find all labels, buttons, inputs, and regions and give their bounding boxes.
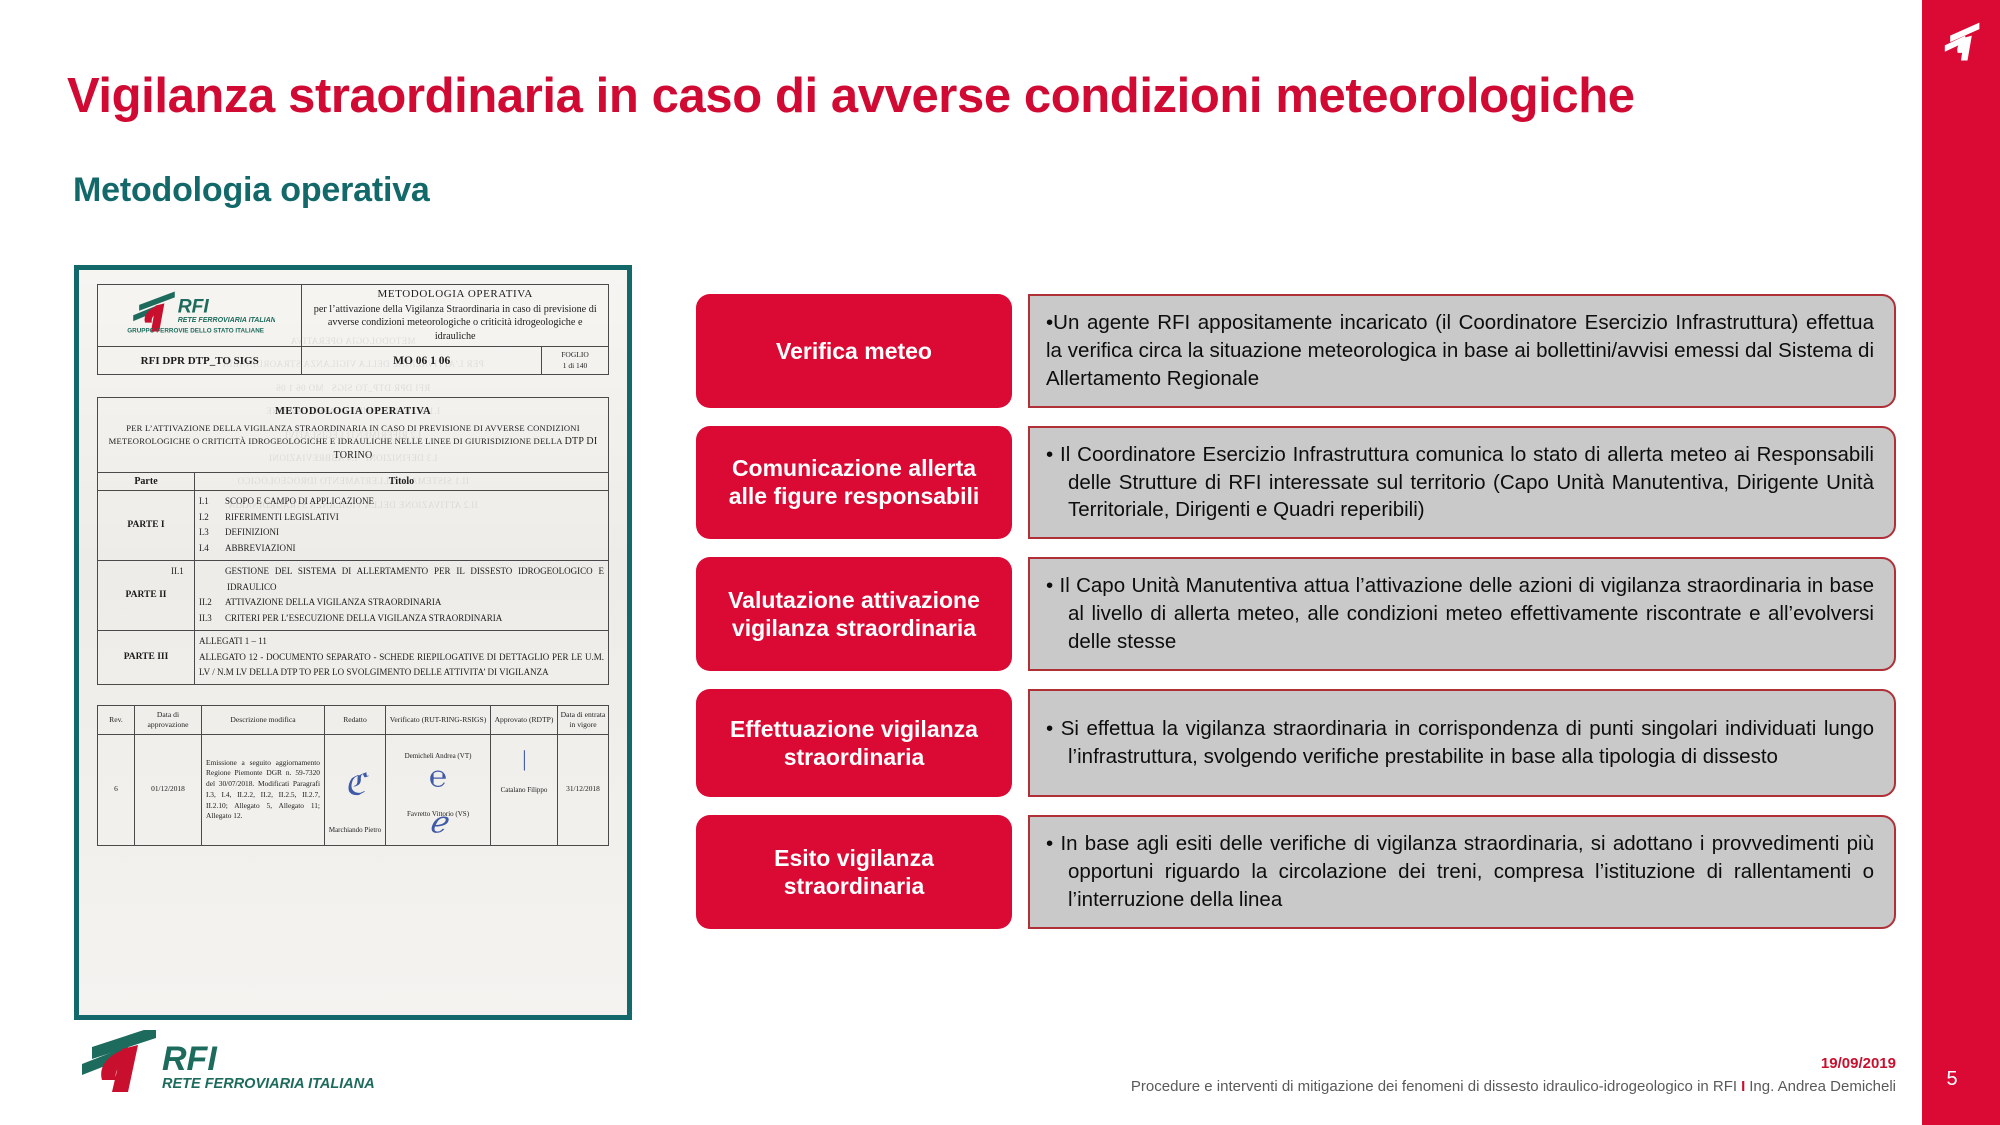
document-header-table: RFI RETE FERROVIARIA ITALIANA GRUPPO FER… bbox=[97, 284, 609, 375]
page-title: Vigilanza straordinaria in caso di avver… bbox=[67, 70, 1867, 124]
rfi-logo-icon: RFI RETE FERROVIARIA ITALIANA GRUPPO FER… bbox=[125, 290, 275, 336]
footer-date: 19/09/2019 bbox=[1821, 1055, 1896, 1072]
toc-item-text: ALLEGATI 1 – 11 bbox=[199, 636, 267, 646]
toc-row: PARTE I I.1SCOPO E CAMPO DI APPLICAZIONE… bbox=[98, 490, 609, 560]
flow-row: Comunicazione allerta alle figure respon… bbox=[696, 426, 1896, 540]
revision-verificato-name-1: Demicheli Andrea (VT) bbox=[386, 751, 490, 761]
revision-redatto-name: Marchiando Pietro bbox=[325, 825, 385, 835]
flow-step-verifica-meteo[interactable]: Verifica meteo bbox=[696, 294, 1012, 408]
revision-data-row: 6 01/12/2018 Emissione a seguito aggiorn… bbox=[98, 734, 609, 845]
revision-date-effective: 31/12/2018 bbox=[558, 734, 609, 845]
toc-row: PARTE III ALLEGATI 1 – 11 ALLEGATO 12 - … bbox=[98, 630, 609, 684]
document-header-logo-cell: RFI RETE FERROVIARIA ITALIANA GRUPPO FER… bbox=[98, 285, 302, 347]
document-spacer bbox=[97, 375, 609, 397]
flow-desc-effettuazione-vigilanza: • Si effettua la vigilanza straordinaria… bbox=[1028, 689, 1896, 797]
revision-col-description: Descrizione modifica bbox=[202, 706, 325, 735]
revision-col-verificato: Verificato (RUT-RING-RSIGS) bbox=[386, 706, 491, 735]
flow-step-esito-vigilanza[interactable]: Esito vigilanza straordinaria bbox=[696, 815, 1012, 929]
revision-date-approval: 01/12/2018 bbox=[135, 734, 202, 845]
revision-col-date-effective: Data di entrata in vigore bbox=[558, 706, 609, 735]
svg-text:GRUPPO FERROVIE DELLO STATO IT: GRUPPO FERROVIE DELLO STATO ITALIANE bbox=[127, 327, 264, 334]
toc-header-titolo: Titolo bbox=[195, 472, 609, 490]
footer-caption: Procedure e interventi di mitigazione de… bbox=[1131, 1078, 1896, 1095]
flow-desc-body: • Il Coordinatore Esercizio Infrastruttu… bbox=[1046, 441, 1874, 525]
svg-text:RETE FERROVIARIA ITALIANA: RETE FERROVIARIA ITALIANA bbox=[162, 1076, 375, 1092]
toc-item: I.2RIFERIMENTI LEGISLATIVI bbox=[199, 510, 604, 526]
toc-row: PARTE II II.1GESTIONE DEL SISTEMA DI ALL… bbox=[98, 560, 609, 630]
flow-step-comunicazione-allerta[interactable]: Comunicazione allerta alle figure respon… bbox=[696, 426, 1012, 540]
toc-item-num: I.4 bbox=[199, 541, 225, 557]
document-content: RFI RETE FERROVIARIA ITALIANA GRUPPO FER… bbox=[97, 284, 609, 1000]
flow-gap bbox=[1012, 689, 1028, 797]
document-section-title: METODOLOGIA OPERATIVA bbox=[108, 406, 598, 417]
revision-approvato: | Catalano Filippo bbox=[491, 734, 558, 845]
document-header-subtitle: per l’attivazione della Vigilanza Straor… bbox=[306, 303, 604, 343]
signature-mark: ℯ bbox=[429, 801, 447, 845]
flow-step-effettuazione-vigilanza[interactable]: Effettuazione vigilanza straordinaria bbox=[696, 689, 1012, 797]
toc-item: II.2ATTIVAZIONE DELLA VIGILANZA STRAORDI… bbox=[199, 595, 604, 611]
svg-text:RETE FERROVIARIA ITALIANA: RETE FERROVIARIA ITALIANA bbox=[177, 317, 274, 324]
flow-desc-body: • In base agli esiti delle verifiche di … bbox=[1046, 830, 1874, 914]
flow-gap bbox=[1012, 815, 1028, 929]
document-revision-table: Rev. Data di approvazione Descrizione mo… bbox=[97, 705, 609, 846]
revision-rev: 6 bbox=[98, 734, 135, 845]
toc-item: II.3CRITERI PER L’ESECUZIONE DELLA VIGIL… bbox=[199, 611, 604, 627]
svg-text:RFI: RFI bbox=[162, 1040, 218, 1078]
toc-item: I.3DEFINIZIONI bbox=[199, 525, 604, 541]
document-section-subtitle-main: PER L’ATTIVAZIONE DELLA VIGILANZA STRAOR… bbox=[109, 423, 580, 445]
flow-row: Effettuazione vigilanza straordinaria • … bbox=[696, 689, 1896, 797]
toc-item-num: II.1 bbox=[199, 564, 225, 580]
flow-desc-text: • Si effettua la vigilanza straordinaria… bbox=[1046, 715, 1874, 771]
toc-item: I.4ABBREVIAZIONI bbox=[199, 541, 604, 557]
toc-item-num: I.3 bbox=[199, 525, 225, 541]
toc-item: II.1GESTIONE DEL SISTEMA DI ALLERTAMENTO… bbox=[199, 564, 604, 596]
toc-item-text: SCOPO E CAMPO DI APPLICAZIONE bbox=[225, 496, 374, 506]
revision-col-redatto: Redatto bbox=[325, 706, 386, 735]
revision-verificato-name-2: Favretto Vittorio (VS) bbox=[386, 809, 490, 819]
flow-row: Valutazione attivazione vigilanza straor… bbox=[696, 557, 1896, 671]
document-header-title: METODOLOGIA OPERATIVA bbox=[306, 288, 604, 300]
flow-desc-text: • Il Capo Unità Manutentiva attua l’atti… bbox=[1046, 572, 1874, 656]
revision-col-date-approval: Data di approvazione bbox=[135, 706, 202, 735]
toc-part-label: PARTE III bbox=[98, 630, 195, 684]
footer-separator: I bbox=[1737, 1078, 1749, 1095]
fs-logo-icon bbox=[1934, 14, 1988, 68]
flow-desc-comunicazione-allerta: • Il Coordinatore Esercizio Infrastruttu… bbox=[1028, 426, 1896, 540]
document-section-header: METODOLOGIA OPERATIVA PER L’ATTIVAZIONE … bbox=[98, 398, 609, 472]
footer-author: Ing. Andrea Demicheli bbox=[1749, 1078, 1896, 1095]
flow-desc-text: • Il Coordinatore Esercizio Infrastruttu… bbox=[1046, 441, 1874, 525]
rfi-logo-footer-icon: RFI RETE FERROVIARIA ITALIANA bbox=[76, 1030, 376, 1096]
process-flow: Verifica meteo •Un agente RFI appositame… bbox=[696, 294, 1896, 929]
document-section-subtitle: PER L’ATTIVAZIONE DELLA VIGILANZA STRAOR… bbox=[108, 422, 598, 463]
flow-desc-esito-vigilanza: • In base agli esiti delle verifiche di … bbox=[1028, 815, 1896, 929]
slide-number: 5 bbox=[1922, 1068, 1982, 1091]
right-red-sidebar bbox=[1922, 0, 2000, 1125]
toc-item: ALLEGATO 12 - DOCUMENTO SEPARATO - SCHED… bbox=[199, 650, 604, 682]
toc-header-parte: Parte bbox=[98, 472, 195, 490]
revision-col-rev: Rev. bbox=[98, 706, 135, 735]
flow-desc-body: • Si effettua la vigilanza straordinaria… bbox=[1046, 715, 1874, 771]
toc-item-num: II.2 bbox=[199, 595, 225, 611]
signature-mark: ℮ bbox=[429, 755, 447, 799]
document-header-code: RFI DPR DTP_TO SIGS bbox=[98, 347, 302, 375]
toc-item-text: GESTIONE DEL SISTEMA DI ALLERTAMENTO PER… bbox=[225, 566, 604, 592]
revision-description: Emissione a seguito aggiornamento Region… bbox=[202, 734, 325, 845]
page-subtitle: Metodologia operativa bbox=[73, 171, 430, 210]
toc-item-text: ABBREVIAZIONI bbox=[225, 543, 296, 553]
footer-caption-text: Procedure e interventi di mitigazione de… bbox=[1131, 1078, 1737, 1095]
foglio-value: 1 di 140 bbox=[563, 361, 588, 370]
toc-item-num: II.3 bbox=[199, 611, 225, 627]
flow-gap bbox=[1012, 294, 1028, 408]
signature-mark: | bbox=[521, 743, 527, 775]
document-header-mo: MO 06 1 06 bbox=[302, 347, 542, 375]
toc-item-text: DEFINIZIONI bbox=[225, 527, 279, 537]
toc-part-label: PARTE I bbox=[98, 490, 195, 560]
document-toc-table: METODOLOGIA OPERATIVA PER L’ATTIVAZIONE … bbox=[97, 397, 609, 685]
flow-row: Verifica meteo •Un agente RFI appositame… bbox=[696, 294, 1896, 408]
toc-item: ALLEGATI 1 – 11 bbox=[199, 634, 604, 650]
toc-item-text: ALLEGATO 12 - DOCUMENTO SEPARATO - SCHED… bbox=[199, 652, 604, 678]
flow-gap bbox=[1012, 557, 1028, 671]
revision-approvato-name: Catalano Filippo bbox=[491, 785, 557, 795]
signature-mark: ℭ bbox=[344, 764, 365, 808]
toc-item: I.1SCOPO E CAMPO DI APPLICAZIONE bbox=[199, 494, 604, 510]
svg-text:RFI: RFI bbox=[177, 296, 209, 317]
revision-verificato: Demicheli Andrea (VT) ℮ Favretto Vittori… bbox=[386, 734, 491, 845]
toc-item-text: CRITERI PER L’ESECUZIONE DELLA VIGILANZA… bbox=[225, 613, 502, 623]
toc-item-num: I.1 bbox=[199, 494, 225, 510]
revision-redatto: ℭ Marchiando Pietro bbox=[325, 734, 386, 845]
flow-row: Esito vigilanza straordinaria • In base … bbox=[696, 815, 1896, 929]
toc-item-text: ATTIVAZIONE DELLA VIGILANZA STRAORDINARI… bbox=[225, 597, 441, 607]
scanned-document-image: METODOLOGIA OPERATIVA PER L’ATTIVAZIONE … bbox=[74, 265, 632, 1020]
toc-item-text: RIFERIMENTI LEGISLATIVI bbox=[225, 512, 339, 522]
flow-step-valutazione-attivazione[interactable]: Valutazione attivazione vigilanza straor… bbox=[696, 557, 1012, 671]
document-header-title-cell: METODOLOGIA OPERATIVA per l’attivazione … bbox=[302, 285, 609, 347]
flow-desc-valutazione-attivazione: • Il Capo Unità Manutentiva attua l’atti… bbox=[1028, 557, 1896, 671]
toc-part-items: ALLEGATI 1 – 11 ALLEGATO 12 - DOCUMENTO … bbox=[195, 630, 609, 684]
flow-desc-text: •Un agente RFI appositamente incaricato … bbox=[1046, 309, 1874, 393]
flow-gap bbox=[1012, 426, 1028, 540]
flow-desc-verifica-meteo: •Un agente RFI appositamente incaricato … bbox=[1028, 294, 1896, 408]
flow-desc-body: • Il Capo Unità Manutentiva attua l’atti… bbox=[1046, 572, 1874, 656]
toc-item-num: I.2 bbox=[199, 510, 225, 526]
foglio-label: FOGLIO bbox=[561, 350, 589, 359]
flow-desc-text: • In base agli esiti delle verifiche di … bbox=[1046, 830, 1874, 914]
revision-header-row: Rev. Data di approvazione Descrizione mo… bbox=[98, 706, 609, 735]
revision-col-approvato: Approvato (RDTP) bbox=[491, 706, 558, 735]
toc-part-items: I.1SCOPO E CAMPO DI APPLICAZIONE I.2RIFE… bbox=[195, 490, 609, 560]
toc-part-items: II.1GESTIONE DEL SISTEMA DI ALLERTAMENTO… bbox=[195, 560, 609, 630]
document-header-foglio: FOGLIO 1 di 140 bbox=[542, 347, 609, 375]
